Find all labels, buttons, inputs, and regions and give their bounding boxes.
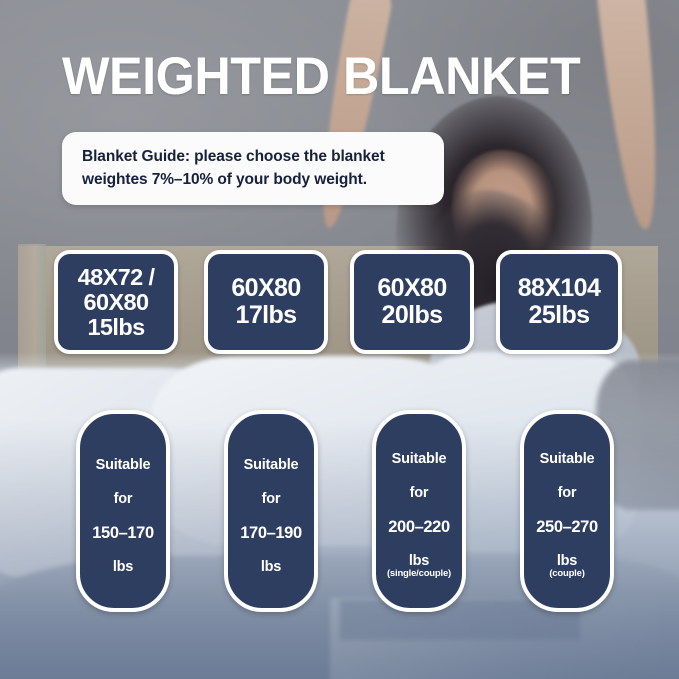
size-card-2-line-1: 60X80 xyxy=(231,275,300,302)
suitability-panel-3-label-1: Suitable xyxy=(392,442,447,476)
size-card-1-line-3: 15lbs xyxy=(87,315,144,340)
suitability-panel-4[interactable]: Suitable for 250–270 lbs (couple) xyxy=(520,410,614,612)
suitability-panel-4-label-1: Suitable xyxy=(540,442,595,476)
suitability-panel-1-range: 150–170 xyxy=(92,516,153,550)
size-card-4[interactable]: 88X104 25lbs xyxy=(496,250,622,354)
suitability-panel-2-label-2: for xyxy=(262,482,281,516)
size-card-4-line-1: 88X104 xyxy=(518,275,601,302)
size-card-4-line-2: 25lbs xyxy=(529,302,590,329)
suitability-panel-3[interactable]: Suitable for 200–220 lbs (single/couple) xyxy=(372,410,466,612)
suitability-panel-4-note: (couple) xyxy=(549,568,584,580)
size-card-3-line-1: 60X80 xyxy=(377,275,446,302)
size-card-1[interactable]: 48X72 / 60X80 15lbs xyxy=(54,250,178,354)
suitability-panel-2-label-1: Suitable xyxy=(244,448,299,482)
suitability-panel-3-note: (single/couple) xyxy=(387,568,451,580)
suitability-panel-3-label-2: for xyxy=(410,476,429,510)
suitability-panel-2-unit: lbs xyxy=(261,550,281,584)
size-card-1-line-1: 48X72 / xyxy=(78,265,155,290)
size-card-2[interactable]: 60X80 17lbs xyxy=(204,250,328,354)
suitability-panel-3-range: 200–220 xyxy=(388,510,449,544)
suitability-panel-1-label-2: for xyxy=(114,482,133,516)
size-card-2-line-2: 17lbs xyxy=(236,302,297,329)
size-card-3[interactable]: 60X80 20lbs xyxy=(350,250,474,354)
size-card-1-line-2: 60X80 xyxy=(84,290,149,315)
suitability-panel-4-label-2: for xyxy=(558,476,577,510)
suitability-panel-2[interactable]: Suitable for 170–190 lbs xyxy=(224,410,318,612)
product-infographic: WEIGHTED BLANKET Blanket Guide: please c… xyxy=(0,0,679,679)
suitability-panel-1-unit: lbs xyxy=(113,550,133,584)
suitability-panel-1[interactable]: Suitable for 150–170 lbs xyxy=(76,410,170,612)
suitability-panel-1-label-1: Suitable xyxy=(96,448,151,482)
size-card-3-line-2: 20lbs xyxy=(382,302,443,329)
suitability-panel-4-range: 250–270 xyxy=(536,510,597,544)
suitability-panel-2-range: 170–190 xyxy=(240,516,301,550)
